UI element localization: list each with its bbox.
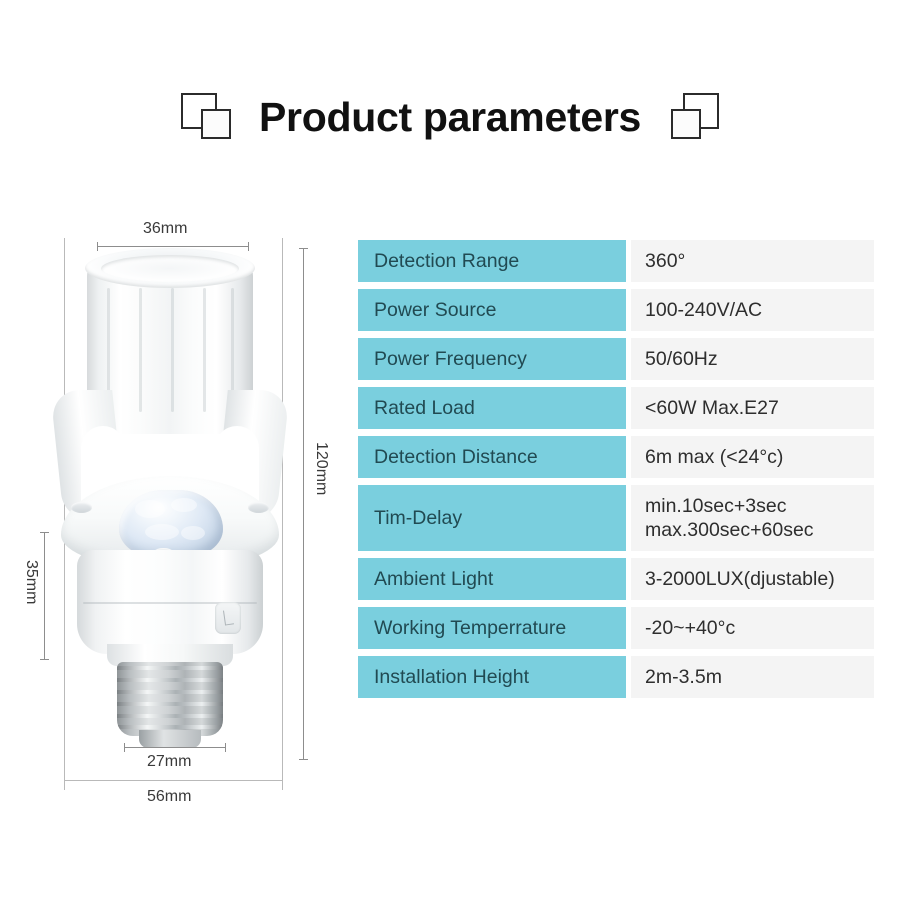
dimension-label-head-height-text: 35mm	[22, 560, 40, 604]
spec-value-line: 360°	[645, 250, 860, 273]
dimension-line-total-height	[303, 248, 304, 760]
lower-barrel	[77, 550, 263, 654]
table-row: Installation Height 2m-3.5m	[358, 656, 874, 698]
pir-sensor-dome	[119, 490, 223, 558]
dimension-line-head-height	[44, 532, 45, 660]
spec-label: Detection Range	[358, 240, 626, 282]
screw-right	[248, 502, 269, 513]
spec-value: 6m max (<24°c)	[631, 436, 874, 478]
spec-value-line: <60W Max.E27	[645, 397, 860, 420]
page-header: Product parameters	[0, 78, 900, 156]
lamp-holder-illustration	[55, 240, 285, 760]
dimension-label-base-width: 27mm	[147, 753, 191, 771]
table-row: Detection Distance 6m max (<24°c)	[358, 436, 874, 478]
spec-value-line: -20~+40°c	[645, 617, 860, 640]
spec-label: Tim-Delay	[358, 485, 626, 551]
spec-label: Detection Distance	[358, 436, 626, 478]
spec-label: Installation Height	[358, 656, 626, 698]
spec-value-line: min.10sec+3sec	[645, 495, 860, 518]
dimension-line-base-width	[124, 747, 226, 748]
spec-label: Rated Load	[358, 387, 626, 429]
specification-table: Detection Range 360° Power Source 100-24…	[358, 240, 874, 705]
table-row: Working Temperrature -20~+40°c	[358, 607, 874, 649]
overlapping-squares-icon	[667, 91, 719, 143]
spec-value-line: 3-2000LUX(djustable)	[645, 568, 860, 591]
e27-screw-base	[117, 662, 223, 736]
table-row: Rated Load <60W Max.E27	[358, 387, 874, 429]
spec-value-line: 50/60Hz	[645, 348, 860, 371]
page-title: Product parameters	[259, 97, 641, 138]
spec-value: <60W Max.E27	[631, 387, 874, 429]
adjustment-dial	[215, 602, 241, 634]
e27-contact-tip	[139, 730, 201, 748]
product-diagram: 36mm 120mm 35mm 27mm 56mm	[0, 210, 350, 820]
dimension-line-top-width	[97, 246, 249, 247]
spec-label: Working Temperrature	[358, 607, 626, 649]
spec-value: 360°	[631, 240, 874, 282]
frame-bottom-line	[64, 780, 283, 781]
table-row: Power Source 100-240V/AC	[358, 289, 874, 331]
spec-value: 50/60Hz	[631, 338, 874, 380]
screw-left	[71, 502, 92, 513]
spec-label: Ambient Light	[358, 558, 626, 600]
dimension-label-top-width: 36mm	[143, 220, 187, 238]
spec-value: min.10sec+3sec max.300sec+60sec	[631, 485, 874, 551]
spec-value-line: 6m max (<24°c)	[645, 446, 860, 469]
spec-value: 100-240V/AC	[631, 289, 874, 331]
spec-value: 2m-3.5m	[631, 656, 874, 698]
socket-rim-inner	[101, 255, 239, 282]
dimension-label-total-height: 120mm	[312, 442, 330, 495]
table-row: Ambient Light 3-2000LUX(djustable)	[358, 558, 874, 600]
spec-label: Power Source	[358, 289, 626, 331]
table-row: Power Frequency 50/60Hz	[358, 338, 874, 380]
spec-value: -20~+40°c	[631, 607, 874, 649]
table-row: Tim-Delay min.10sec+3sec max.300sec+60se…	[358, 485, 874, 551]
overlapping-squares-icon	[181, 91, 233, 143]
dimension-label-overall-width: 56mm	[147, 788, 191, 806]
spec-value-line: 100-240V/AC	[645, 299, 860, 322]
table-row: Detection Range 360°	[358, 240, 874, 282]
spec-value: 3-2000LUX(djustable)	[631, 558, 874, 600]
spec-label: Power Frequency	[358, 338, 626, 380]
spec-value-line-2: max.300sec+60sec	[645, 519, 860, 542]
spec-value-line: 2m-3.5m	[645, 666, 860, 689]
